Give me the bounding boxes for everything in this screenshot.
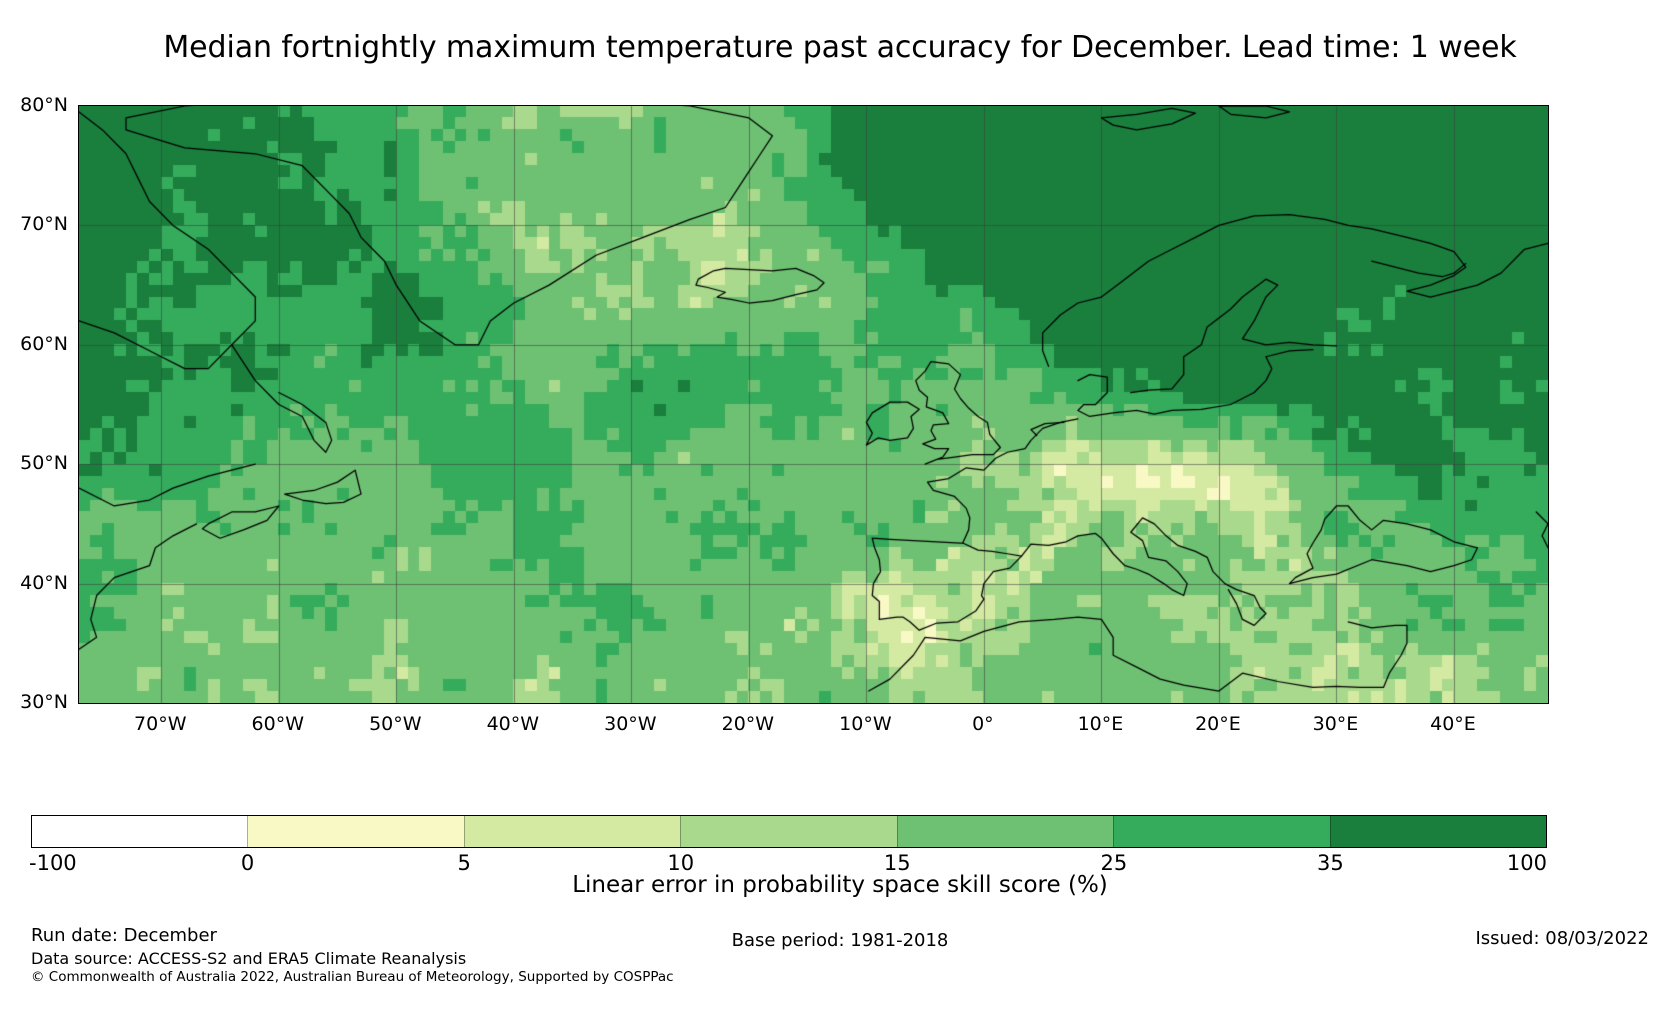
longitude-tick-label: 20°E xyxy=(1195,713,1241,735)
latitude-tick-label: 60°N xyxy=(0,333,68,355)
longitude-tick-label: 60°W xyxy=(252,713,304,735)
longitude-tick-label: 20°W xyxy=(722,713,774,735)
latitude-tick-label: 30°N xyxy=(0,691,68,713)
colorbar-segment xyxy=(247,816,463,847)
colorbar-segment xyxy=(32,816,247,847)
latitude-tick-label: 70°N xyxy=(0,213,68,235)
latitude-tick-label: 40°N xyxy=(0,572,68,594)
longitude-tick-label: 30°E xyxy=(1313,713,1359,735)
page-title: Median fortnightly maximum temperature p… xyxy=(0,30,1680,65)
colorbar-segment xyxy=(897,816,1113,847)
latitude-tick-label: 80°N xyxy=(0,94,68,116)
colorbar-segment xyxy=(1113,816,1329,847)
colorbar-segment xyxy=(1330,816,1546,847)
longitude-tick-label: 10°W xyxy=(839,713,891,735)
longitude-tick-label: 40°E xyxy=(1430,713,1476,735)
longitude-tick-label: 10°E xyxy=(1078,713,1124,735)
map-plot-area xyxy=(78,105,1549,704)
skill-score-heatmap-canvas xyxy=(79,106,1548,703)
copyright-text: © Commonwealth of Australia 2022, Austra… xyxy=(31,969,674,987)
longitude-tick-label: 0° xyxy=(972,713,994,735)
colorbar-segment xyxy=(464,816,680,847)
colorbar-container: -1000510152535100 xyxy=(31,815,1547,848)
base-period-text: Base period: 1981-2018 xyxy=(0,930,1680,951)
colorbar-segment xyxy=(680,816,896,847)
issued-date-text: Issued: 08/03/2022 xyxy=(1475,928,1649,949)
longitude-tick-label: 70°W xyxy=(134,713,186,735)
longitude-tick-label: 50°W xyxy=(369,713,421,735)
latitude-tick-label: 50°N xyxy=(0,452,68,474)
colorbar xyxy=(31,815,1547,848)
colorbar-axis-label: Linear error in probability space skill … xyxy=(0,872,1680,898)
longitude-tick-label: 40°W xyxy=(487,713,539,735)
longitude-tick-label: 30°W xyxy=(604,713,656,735)
